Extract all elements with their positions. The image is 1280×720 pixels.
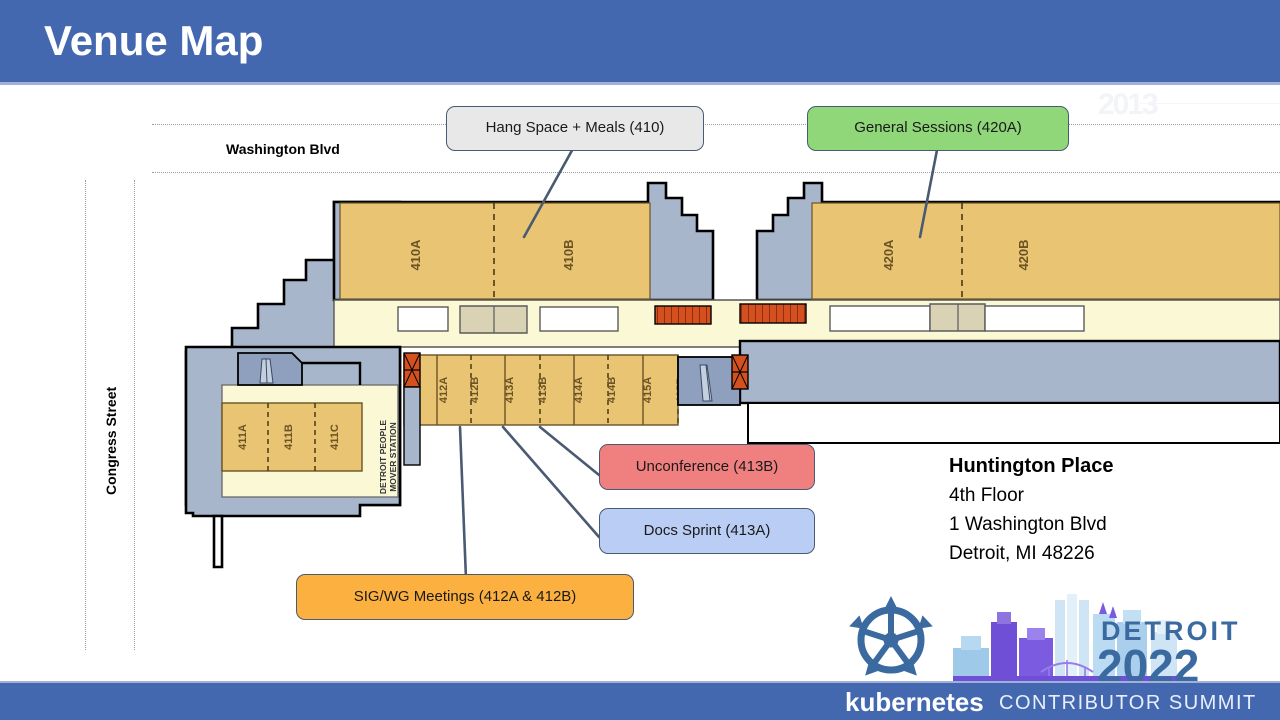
kubernetes-helm-icon [849,596,933,676]
escalator-2 [740,304,806,323]
room-label-411A: 411A [237,424,249,450]
corridor-block-3 [540,307,618,331]
transit-label-line2: MOVER STATION [388,422,398,492]
footer-logo-subtitle: CONTRIBUTOR SUMMIT [999,689,1257,717]
hall-410: 410A 410B [334,183,713,300]
leader-unconference [540,427,599,475]
corridor-block-4 [830,306,930,331]
room-label-420A: 420A [881,239,896,271]
escalator-1 [655,306,711,324]
circulation-shaft-left [404,387,420,465]
room-label-414B: 414B [606,377,618,403]
room-label-412B: 412B [469,377,481,403]
building-tail [214,516,222,567]
room-label-411C: 411C [329,424,341,450]
room-label-420B: 420B [1016,239,1031,270]
footer-logo-wordmark: kubernetes [845,686,984,718]
room-410 [340,203,650,299]
transit-label-line1: DETROIT PEOPLE [378,420,388,494]
callout-docs-sprint[interactable]: Docs Sprint (413A) [599,508,815,554]
room-label-412A: 412A [438,377,450,403]
venue-city: Detroit, MI 48226 [949,539,1113,568]
venue-floor: 4th Floor [949,481,1113,510]
room-label-410A: 410A [408,239,423,271]
callout-general-sessions[interactable]: General Sessions (420A) [807,106,1069,151]
room-label-415A: 415A [642,377,654,403]
room-label-413A: 413A [504,377,516,403]
venue-name: Huntington Place [949,452,1113,481]
slide-root: Venue Map 2013 Washington Blvd Congress … [0,0,1280,720]
callout-unconference[interactable]: Unconference (413B) [599,444,815,490]
corridor-block-1 [398,307,448,331]
room-label-410B: 410B [561,239,576,270]
building-lower-right-mass [740,341,1280,443]
corridor-block-6 [985,306,1084,331]
lower-left-block: 411A 411B 411C DETROIT PEOPLE MOVER STAT… [186,347,400,516]
leader-docs-sprint [503,427,599,537]
hall-420: 420A 420B [757,183,1280,300]
callout-hang-space[interactable]: Hang Space + Meals (410) [446,106,704,151]
page-title: Venue Map [44,13,263,69]
room-label-411B: 411B [283,424,295,450]
room-label-414A: 414A [573,377,585,403]
venue-street: 1 Washington Blvd [949,510,1113,539]
leader-sigwg [460,427,466,579]
meeting-rooms-strip: 412A 412B 413A 413B 414A 414B 415A 415B [404,355,687,425]
address-block: Huntington Place 4th Floor 1 Washington … [949,452,1113,568]
room-label-413B: 413B [537,377,549,403]
callout-sig-wg-meetings[interactable]: SIG/WG Meetings (412A & 412B) [296,574,634,620]
